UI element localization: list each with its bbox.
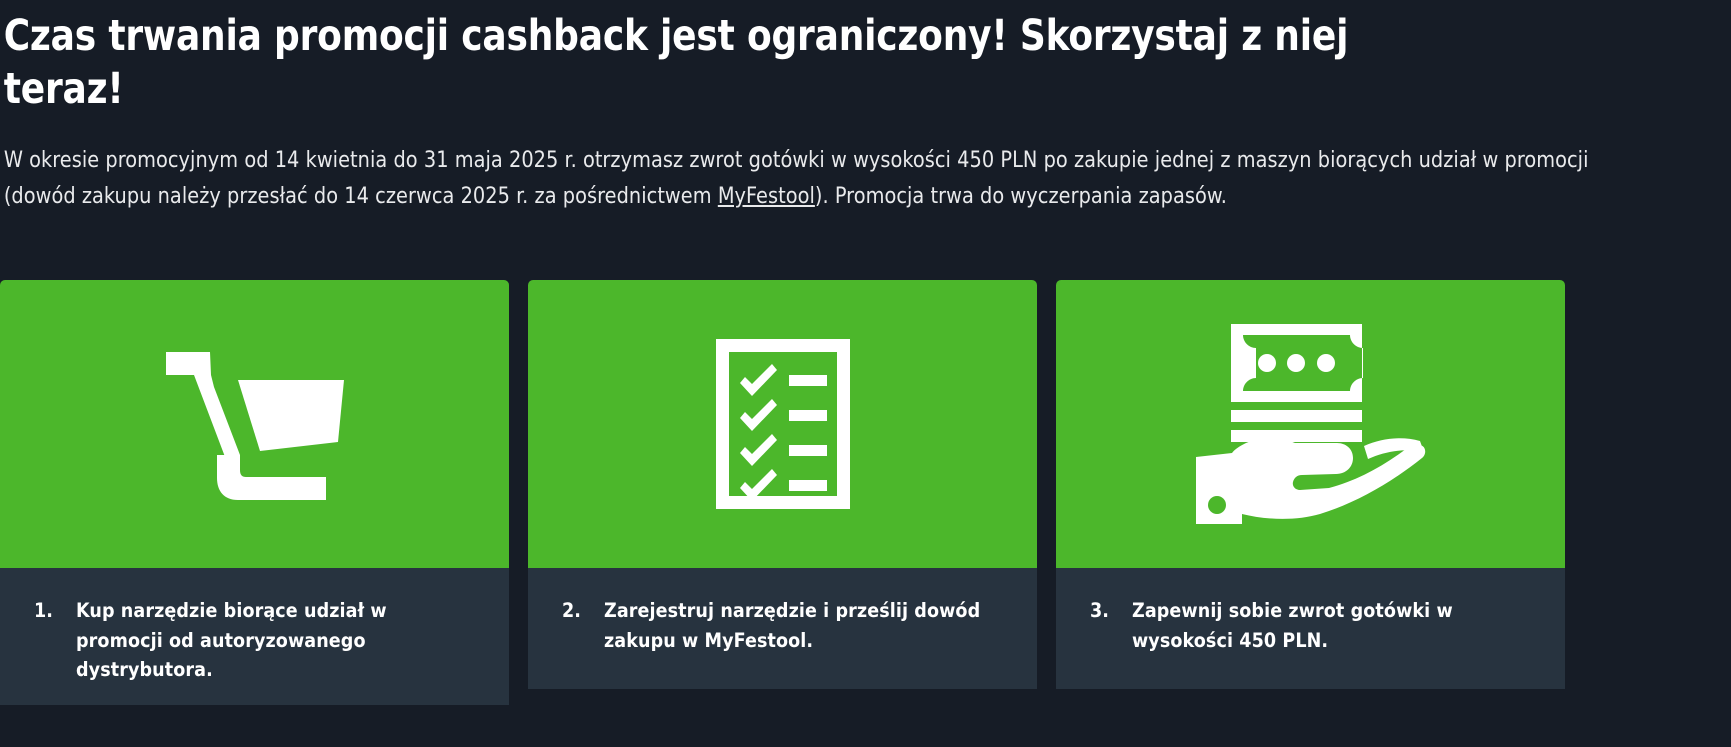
myfestool-link[interactable]: MyFestool [718, 183, 815, 209]
steps-card-list: 1. Kup narzędzie biorące udział w promoc… [0, 280, 1731, 705]
promo-page: Czas trwania promocji cashback jest ogra… [0, 0, 1731, 747]
step-card-1[interactable]: 1. Kup narzędzie biorące udział w promoc… [0, 280, 509, 705]
step-card-1-caption: 1. Kup narzędzie biorące udział w promoc… [0, 568, 509, 705]
step-card-3-media [1056, 280, 1565, 568]
step-card-3-caption: 3. Zapewnij sobie zwrot gotówki w wysoko… [1056, 568, 1565, 689]
step-text: Kup narzędzie biorące udział w promocji … [76, 596, 475, 685]
step-card-2[interactable]: 2. Zarejestruj narzędzie i prześlij dowó… [528, 280, 1037, 705]
step-number: 1. [34, 596, 76, 626]
step-card-2-caption: 2. Zarejestruj narzędzie i prześlij dowó… [528, 568, 1037, 689]
promo-description-part2: ). Promocja trwa do wyczerpania zapasów. [815, 183, 1227, 209]
step-card-2-media [528, 280, 1037, 568]
checklist-icon [716, 339, 850, 509]
cash-in-hand-icon [1196, 324, 1426, 524]
step-text: Zapewnij sobie zwrot gotówki w wysokości… [1132, 596, 1531, 655]
shopping-cart-icon [166, 339, 344, 509]
step-card-1-media [0, 280, 509, 568]
step-number: 2. [562, 596, 604, 626]
page-title: Czas trwania promocji cashback jest ogra… [0, 0, 1610, 116]
promo-description: W okresie promocyjnym od 14 kwietnia do … [0, 116, 1653, 215]
step-number: 3. [1090, 596, 1132, 626]
step-card-3[interactable]: 3. Zapewnij sobie zwrot gotówki w wysoko… [1056, 280, 1565, 705]
step-text: Zarejestruj narzędzie i prześlij dowód z… [604, 596, 1003, 655]
